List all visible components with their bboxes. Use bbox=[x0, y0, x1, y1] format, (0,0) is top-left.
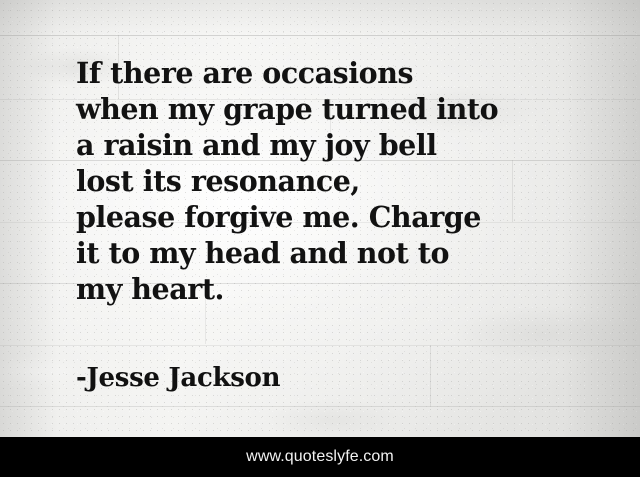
quote-line: please forgive me. Charge bbox=[76, 199, 576, 235]
site-url: www.quoteslyfe.com bbox=[246, 448, 394, 466]
quote-line: lost its resonance, bbox=[76, 163, 576, 199]
quote-line: my heart. bbox=[76, 271, 576, 307]
quote-line: it to my head and not to bbox=[76, 235, 576, 271]
quote-line: when my grape turned into bbox=[76, 91, 576, 127]
quote-text: If there are occasions when my grape tur… bbox=[76, 55, 576, 307]
card-content: If there are occasions when my grape tur… bbox=[0, 0, 640, 477]
quote-author: -Jesse Jackson bbox=[76, 362, 280, 394]
footer-bar: www.quoteslyfe.com bbox=[0, 437, 640, 477]
quote-line: a raisin and my joy bell bbox=[76, 127, 576, 163]
quote-card: If there are occasions when my grape tur… bbox=[0, 0, 640, 477]
quote-line: If there are occasions bbox=[76, 55, 576, 91]
